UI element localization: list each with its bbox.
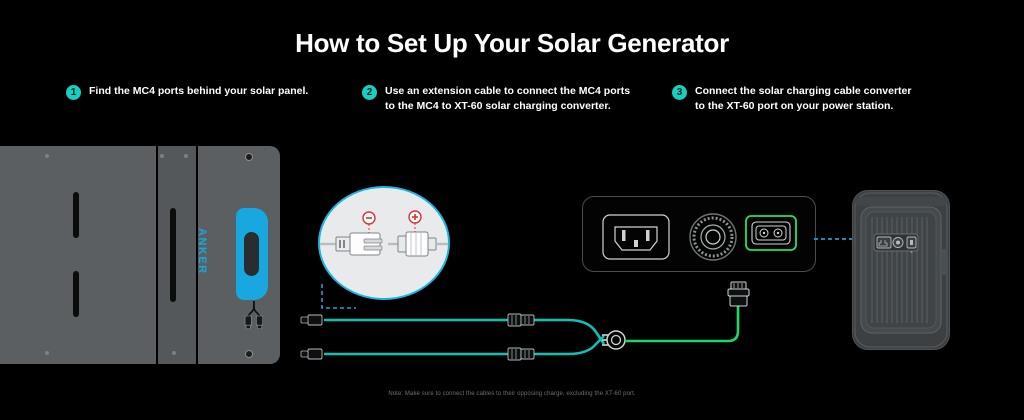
step-badge-2: 2	[362, 85, 377, 100]
panel-screw-mt	[160, 154, 164, 158]
panel-screw-mb	[172, 351, 176, 355]
ac-outlet-port[interactable]	[603, 215, 669, 259]
footer-note: Note: Make sure to connect the cables to…	[0, 391, 1024, 397]
panel-screw-tl	[45, 154, 49, 158]
panel-slot-lower	[73, 271, 79, 317]
mc4-plug-top-left	[301, 315, 322, 325]
power-station	[852, 190, 950, 350]
panel-slot-upper	[73, 192, 79, 238]
solar-panel: ANKER	[0, 146, 284, 364]
step-text-1: Find the MC4 ports behind your solar pan…	[89, 84, 308, 99]
mc4-to-xt60-converter	[602, 331, 625, 349]
panel-handle	[236, 208, 268, 300]
step-item-1: 1 Find the MC4 ports behind your solar p…	[66, 84, 366, 100]
panel-mc4-pigtail	[244, 298, 268, 334]
port-panel-leader-line	[814, 236, 856, 242]
xt60-plug	[728, 282, 749, 306]
extension-cable-harness	[296, 282, 766, 382]
panel-screw-rt	[245, 153, 253, 161]
mc4-coupler-bottom	[508, 348, 534, 360]
port-panel-ports	[583, 197, 815, 271]
infographic-root: How to Set Up Your Solar Generator 1 Fin…	[0, 0, 1024, 420]
mc4-plug-bottom-left	[301, 349, 322, 359]
brand-label: ANKER	[196, 228, 208, 275]
mc4-coupler-top	[508, 314, 534, 326]
solar-panel-leaf-middle	[158, 146, 196, 364]
page-title: How to Set Up Your Solar Generator	[0, 28, 1024, 59]
panel-screw-bl	[45, 351, 49, 355]
dc-round-port[interactable]	[690, 214, 736, 260]
step-item-3: 3 Connect the solar charging cable conve…	[672, 84, 972, 114]
xt-60-port[interactable]	[746, 216, 796, 250]
solar-panel-leaf-left	[0, 146, 156, 364]
power-station-port-panel	[582, 196, 816, 272]
steps-row: 1 Find the MC4 ports behind your solar p…	[0, 84, 1024, 130]
step-badge-3: 3	[672, 85, 687, 100]
step-text-2: Use an extension cable to connect the MC…	[385, 84, 630, 114]
step-text-3: Connect the solar charging cable convert…	[695, 84, 911, 114]
step-item-2: 2 Use an extension cable to connect the …	[362, 84, 662, 114]
panel-screw-mt2	[184, 154, 188, 158]
power-station-body	[853, 191, 949, 349]
panel-slot-middle	[170, 208, 176, 302]
step-badge-1: 1	[66, 85, 81, 100]
panel-screw-rb	[245, 350, 253, 358]
